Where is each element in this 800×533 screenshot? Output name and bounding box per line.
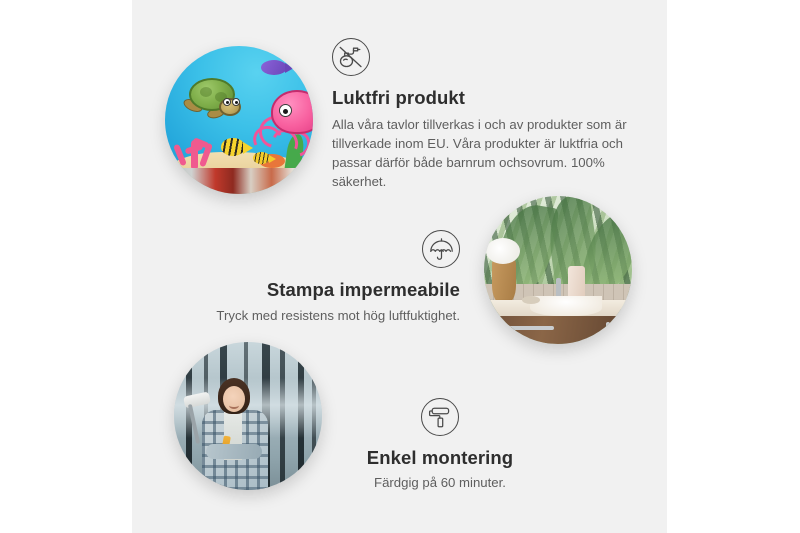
content-panel: Luktfri produkt Alla våra tavlor tillver…: [132, 0, 667, 533]
woman-with-roller-forest-photo: [174, 342, 322, 490]
feature-title: Luktfri produkt: [332, 86, 632, 109]
bathroom-leaf-wallpaper-photo: [484, 196, 632, 344]
flower-icon: [486, 238, 520, 264]
foreground-strip: [165, 168, 313, 194]
soap-dish-icon: [522, 296, 540, 304]
feature-odour-free: Luktfri produkt Alla våra tavlor tillver…: [332, 38, 632, 191]
fish-icon: [253, 152, 270, 164]
octopus-icon: [257, 90, 313, 152]
underwater-cartoon-photo: [165, 46, 313, 194]
paint-roller-icon: [421, 398, 459, 436]
feature-title: Stampa impermeabile: [202, 278, 460, 301]
underwater-scene: [165, 46, 313, 194]
feature-description: Färdgig på 60 minuter.: [338, 473, 542, 492]
feature-title: Enkel montering: [338, 446, 542, 469]
feature-waterproof-print: Stampa impermeabile Tryck med resistens …: [202, 230, 460, 325]
feature-description: Tryck med resistens mot hög luftfuktighe…: [202, 306, 460, 325]
fish-icon: [261, 60, 287, 75]
feature-description: Alla våra tavlor tillverkas i och av pro…: [332, 115, 632, 191]
feature-easy-mounting: Enkel montering Färdgig på 60 minuter.: [338, 398, 542, 492]
umbrella-icon: [422, 230, 460, 268]
fish-icon: [221, 138, 245, 156]
bathroom-scene: [484, 196, 632, 344]
feature-panel-screenshot: Luktfri produkt Alla våra tavlor tillver…: [0, 0, 800, 533]
sink-icon: [530, 296, 602, 316]
wood-vanity-cabinet: [484, 316, 632, 344]
turtle-icon: [181, 78, 243, 120]
no-fragrance-icon: [332, 38, 370, 76]
coral-icon: [173, 128, 223, 170]
forest-scene: [174, 342, 322, 490]
woman-figure: [196, 378, 274, 490]
vase-icon: [492, 258, 516, 304]
